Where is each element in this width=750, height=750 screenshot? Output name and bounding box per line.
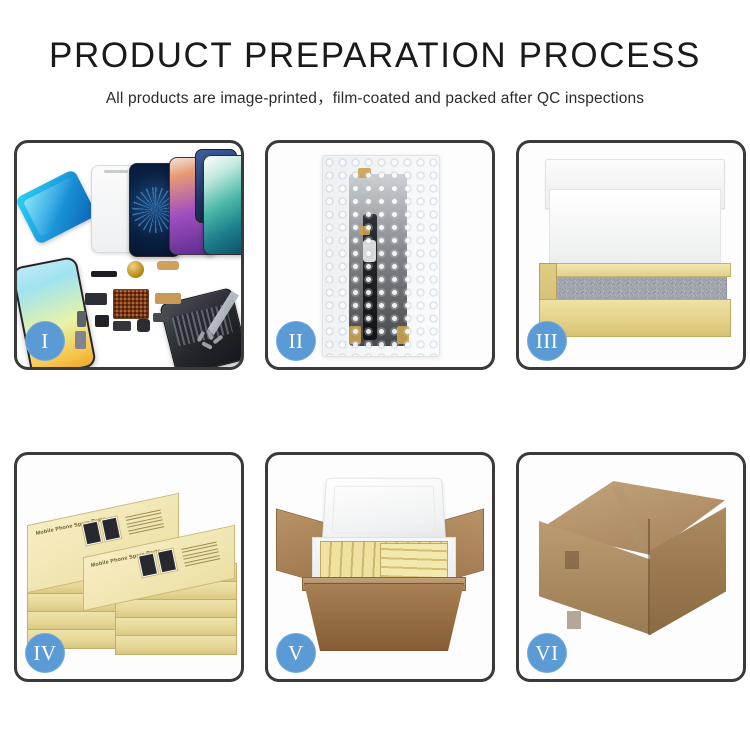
button-module-icon xyxy=(137,319,150,332)
foam-box-lid-icon xyxy=(322,478,446,543)
step-badge-1: I xyxy=(25,321,65,361)
process-step-4: Mobile Phone Spare Parts Mobile Phone Sp… xyxy=(14,452,244,682)
bubble-texture-icon xyxy=(323,156,439,356)
small-chip-icon xyxy=(95,315,109,327)
teal-gradient-phone-icon xyxy=(203,155,241,255)
screws-icon xyxy=(197,329,227,351)
logic-board-icon xyxy=(113,289,149,319)
sim-tray-icon xyxy=(77,311,86,327)
bubble-wrap-bag-icon xyxy=(322,155,440,357)
product-preparation-infographic: PRODUCT PREPARATION PROCESS All products… xyxy=(0,0,750,750)
gold-flex-strip-icon xyxy=(155,293,181,304)
process-step-6: VI xyxy=(516,452,746,682)
step-badge-3: III xyxy=(527,321,567,361)
step-badge-6: VI xyxy=(527,633,567,673)
process-step-1: I xyxy=(14,140,244,370)
metal-bracket-icon xyxy=(75,331,86,349)
retail-box-icon xyxy=(115,635,237,655)
process-step-2: II xyxy=(265,140,495,370)
vibrator-motor-icon xyxy=(113,321,131,331)
carton-seam-icon xyxy=(565,551,579,569)
page-subtitle: All products are image-printed，film-coat… xyxy=(0,86,750,108)
kraft-box-front-icon xyxy=(539,299,731,337)
step-badge-5: V xyxy=(276,633,316,673)
process-step-grid: I II xyxy=(14,140,736,682)
camera-module-icon xyxy=(85,293,107,305)
retail-box-icon xyxy=(115,617,237,637)
box-stack-icon: Mobile Phone Spare Parts Mobile Phone Sp… xyxy=(27,479,235,663)
step-badge-2: II xyxy=(276,321,316,361)
header: PRODUCT PREPARATION PROCESS All products… xyxy=(0,0,750,108)
antenna-part-icon xyxy=(153,313,169,322)
carton-front-icon xyxy=(304,583,464,651)
process-step-3: III xyxy=(516,140,746,370)
retail-box-icon xyxy=(115,599,237,619)
carton-edge-icon xyxy=(648,519,650,635)
process-step-5: V xyxy=(265,452,495,682)
flex-cable-icon xyxy=(91,271,117,277)
step-badge-4: IV xyxy=(25,633,65,673)
speaker-coil-icon xyxy=(127,261,144,278)
page-title: PRODUCT PREPARATION PROCESS xyxy=(0,38,750,75)
box-rim-icon xyxy=(539,263,731,277)
gold-connector-icon xyxy=(157,261,179,270)
carton-seam-icon xyxy=(567,611,581,629)
blue-lcd-panel-icon xyxy=(17,169,97,245)
